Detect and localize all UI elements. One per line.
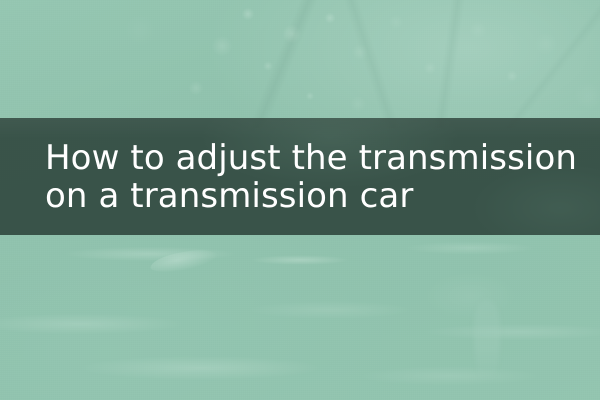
title-banner: How to adjust the transmission on a tran… <box>0 118 600 235</box>
page-title: How to adjust the transmission on a tran… <box>0 139 587 215</box>
title-card: How to adjust the transmission on a tran… <box>0 0 600 400</box>
